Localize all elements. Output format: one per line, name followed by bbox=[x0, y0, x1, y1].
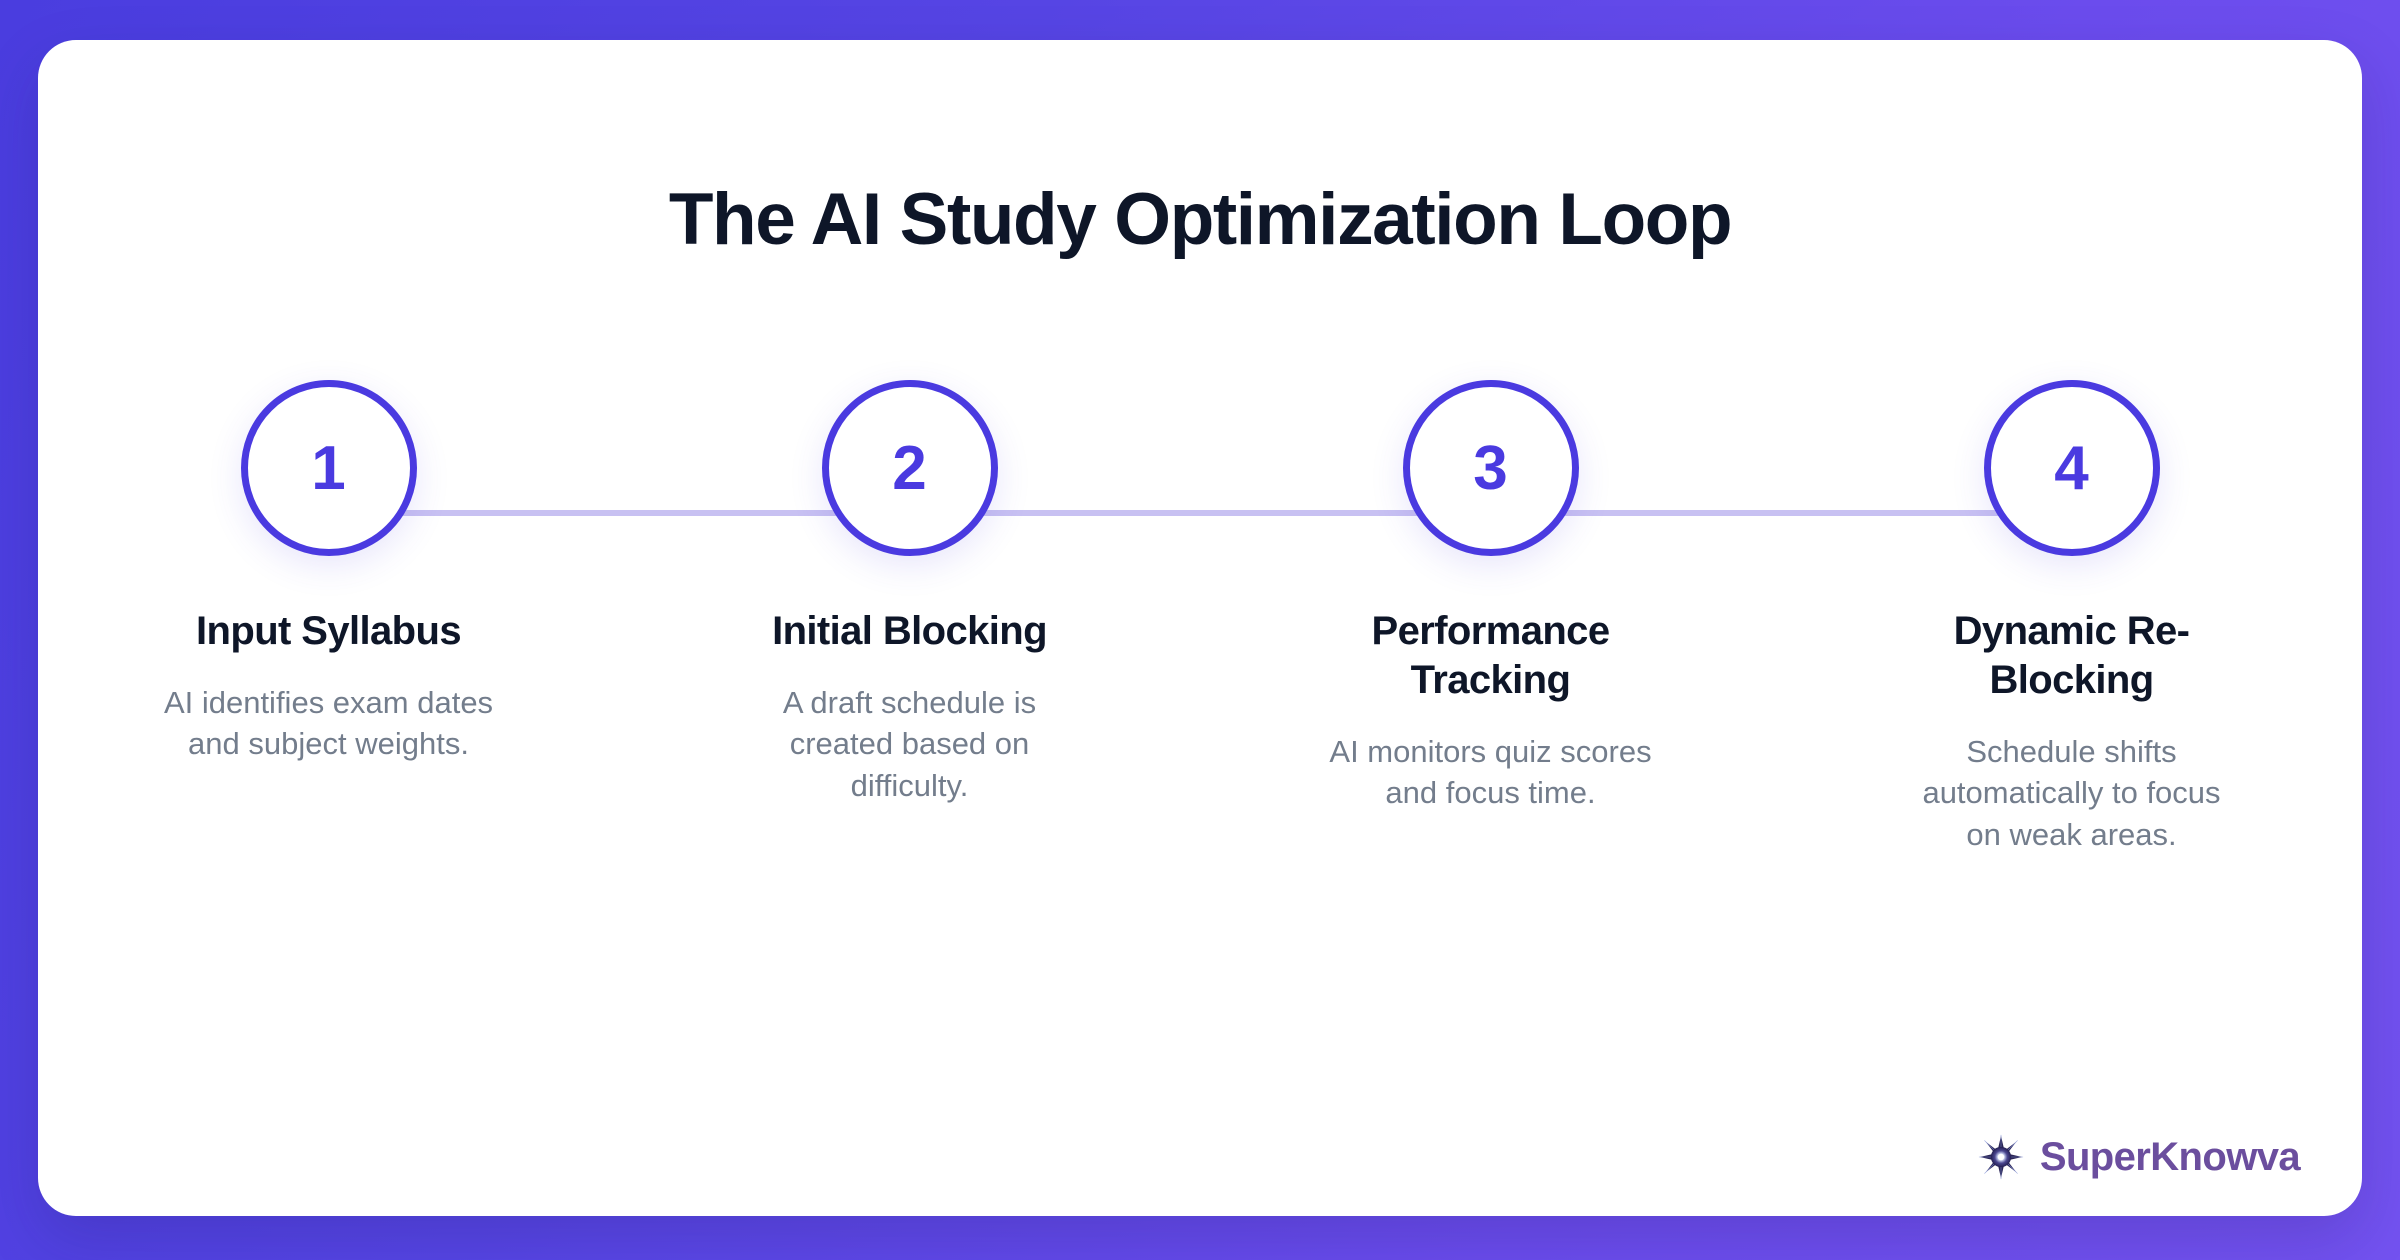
page-title: The AI Study Optimization Loop bbox=[38, 180, 2362, 260]
process-timeline: 1 Input Syllabus AI identifies exam date… bbox=[38, 380, 2362, 1140]
step-description: Schedule shifts automatically to focus o… bbox=[1907, 731, 2237, 856]
step-description: AI monitors quiz scores and focus time. bbox=[1326, 731, 1656, 814]
brand-name: SuperKnowva bbox=[2040, 1135, 2300, 1180]
step-number-badge: 1 bbox=[241, 380, 417, 556]
timeline-steps: 1 Input Syllabus AI identifies exam date… bbox=[38, 380, 2362, 1140]
step-number-badge: 4 bbox=[1984, 380, 2160, 556]
step-number-badge: 3 bbox=[1403, 380, 1579, 556]
content-card: The AI Study Optimization Loop 1 Input S… bbox=[38, 40, 2362, 1216]
step-description: AI identifies exam dates and subject wei… bbox=[164, 682, 494, 765]
step-title: Performance Tracking bbox=[1326, 607, 1656, 705]
timeline-step-3[interactable]: 3 Performance Tracking AI monitors quiz … bbox=[1200, 380, 1781, 814]
brand-logo: SuperKnowva bbox=[1978, 1134, 2300, 1180]
starburst-logo-icon bbox=[1978, 1134, 2024, 1180]
step-title: Input Syllabus bbox=[164, 607, 494, 656]
step-title: Dynamic Re-Blocking bbox=[1907, 607, 2237, 705]
timeline-step-1[interactable]: 1 Input Syllabus AI identifies exam date… bbox=[38, 380, 619, 765]
step-number-badge: 2 bbox=[822, 380, 998, 556]
step-description: A draft schedule is created based on dif… bbox=[745, 682, 1075, 807]
step-title: Initial Blocking bbox=[745, 607, 1075, 656]
timeline-step-4[interactable]: 4 Dynamic Re-Blocking Schedule shifts au… bbox=[1781, 380, 2362, 855]
timeline-step-2[interactable]: 2 Initial Blocking A draft schedule is c… bbox=[619, 380, 1200, 806]
